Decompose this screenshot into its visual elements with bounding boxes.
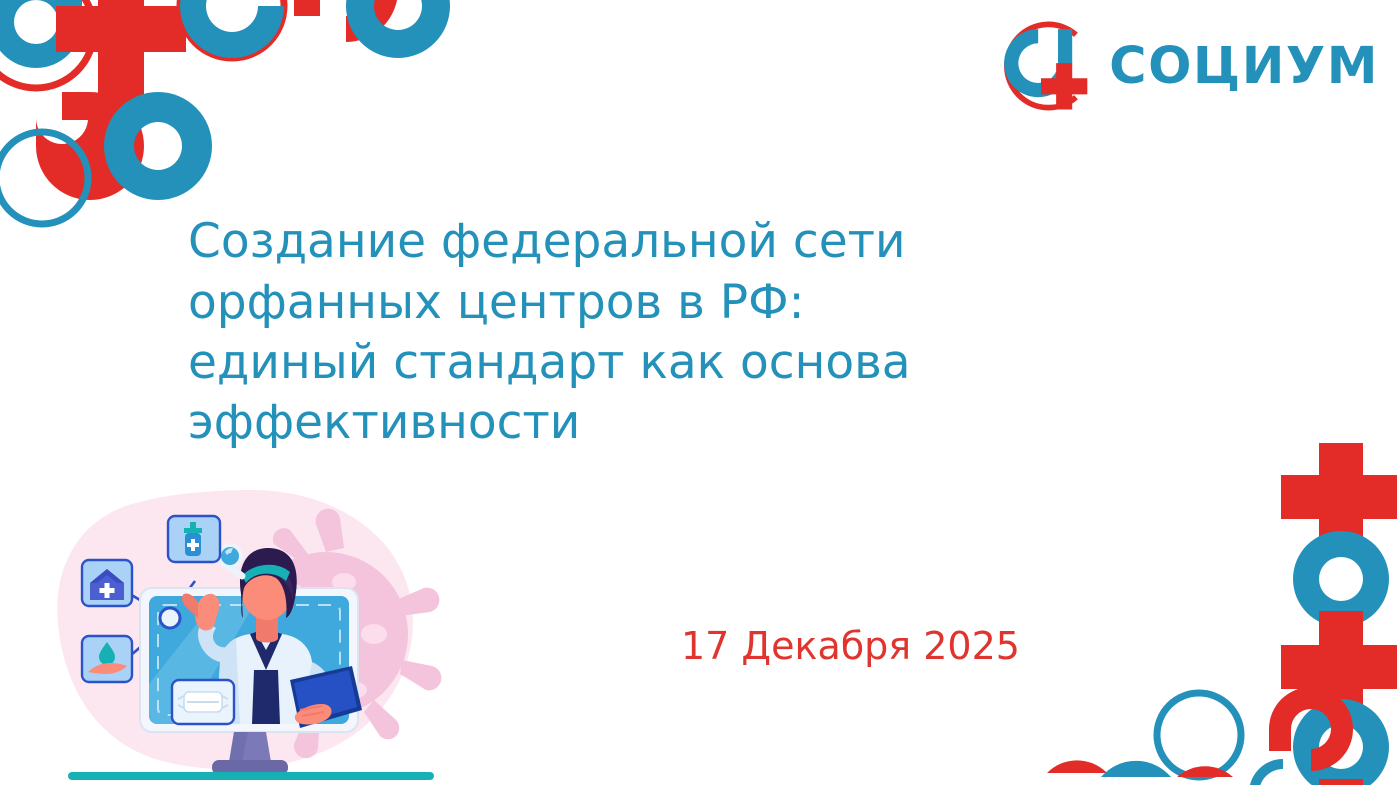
network-hub-node [160, 608, 180, 628]
red-partial-shape-icon [1177, 766, 1233, 777]
red-cross-br-2-icon [1281, 611, 1397, 723]
page-title: Создание федеральной сети орфанных центр… [188, 212, 1018, 453]
red-c-shape-br-icon [1269, 687, 1353, 771]
teal-half-disc-icon [1101, 761, 1171, 777]
teal-c-shape-icon [180, 0, 284, 58]
red-cross-br-3-icon [1319, 779, 1363, 785]
floor-line [68, 772, 434, 780]
teal-ring-br-1-icon [1293, 531, 1389, 627]
red-outline-ring-2-icon [180, 0, 284, 58]
presentation-slide: СОЦИУМ Создание федеральной сети орфанны… [0, 0, 1397, 785]
teal-ring-br-2-icon [1293, 699, 1389, 785]
red-outline-ring-icon [0, 0, 94, 88]
hospital-card-icon [82, 560, 132, 606]
teal-ring-3-icon [104, 92, 212, 200]
teal-ring-2-icon [346, 0, 450, 58]
red-cross-icon [56, 0, 186, 104]
red-half-disc-icon [1047, 760, 1107, 773]
red-c-shape-icon [294, 0, 398, 42]
teal-outline-circle-br-icon [1157, 693, 1241, 777]
teal-outline-circle-icon [0, 132, 88, 224]
slide-date: 17 Декабря 2025 [681, 624, 1020, 668]
telemedicine-doctor-illustration [44, 484, 444, 785]
decorative-pattern-bottom-right [1001, 443, 1397, 785]
teal-ring-shape-icon [0, 0, 82, 68]
circle-cross-logo-icon [989, 14, 1093, 118]
brand-logo: СОЦИУМ [989, 14, 1379, 118]
red-cross-br-1-icon [1281, 443, 1397, 553]
face-mask-card-icon [172, 680, 234, 724]
red-three-shape-icon [36, 92, 144, 200]
hand-droplet-card-icon [82, 636, 132, 682]
sanitizer-card-icon [168, 516, 220, 562]
red-cross-mark-icon [1041, 63, 1087, 109]
teal-arc-fragment-icon [1249, 759, 1283, 785]
brand-wordmark: СОЦИУМ [1109, 41, 1379, 92]
